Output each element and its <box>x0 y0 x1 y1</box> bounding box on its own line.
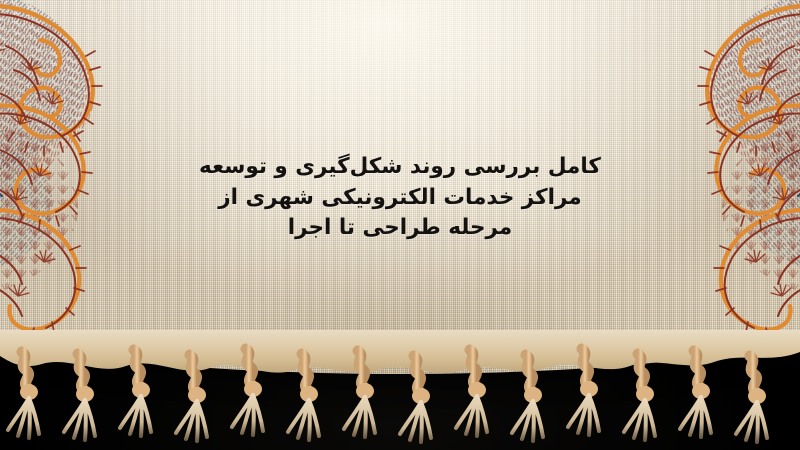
tassel-fringe <box>0 330 800 450</box>
slide-canvas: کامل بررسی روند شکل‌گیری و توسعه مراکز خ… <box>0 0 800 450</box>
title-line-3: مرحله طراحی تا اجرا <box>185 213 615 244</box>
title-line-2: مراکز خدمات الکترونیکی شهری از <box>185 183 615 214</box>
slide-title: کامل بررسی روند شکل‌گیری و توسعه مراکز خ… <box>185 152 615 244</box>
title-line-1: کامل بررسی روند شکل‌گیری و توسعه <box>185 152 615 183</box>
